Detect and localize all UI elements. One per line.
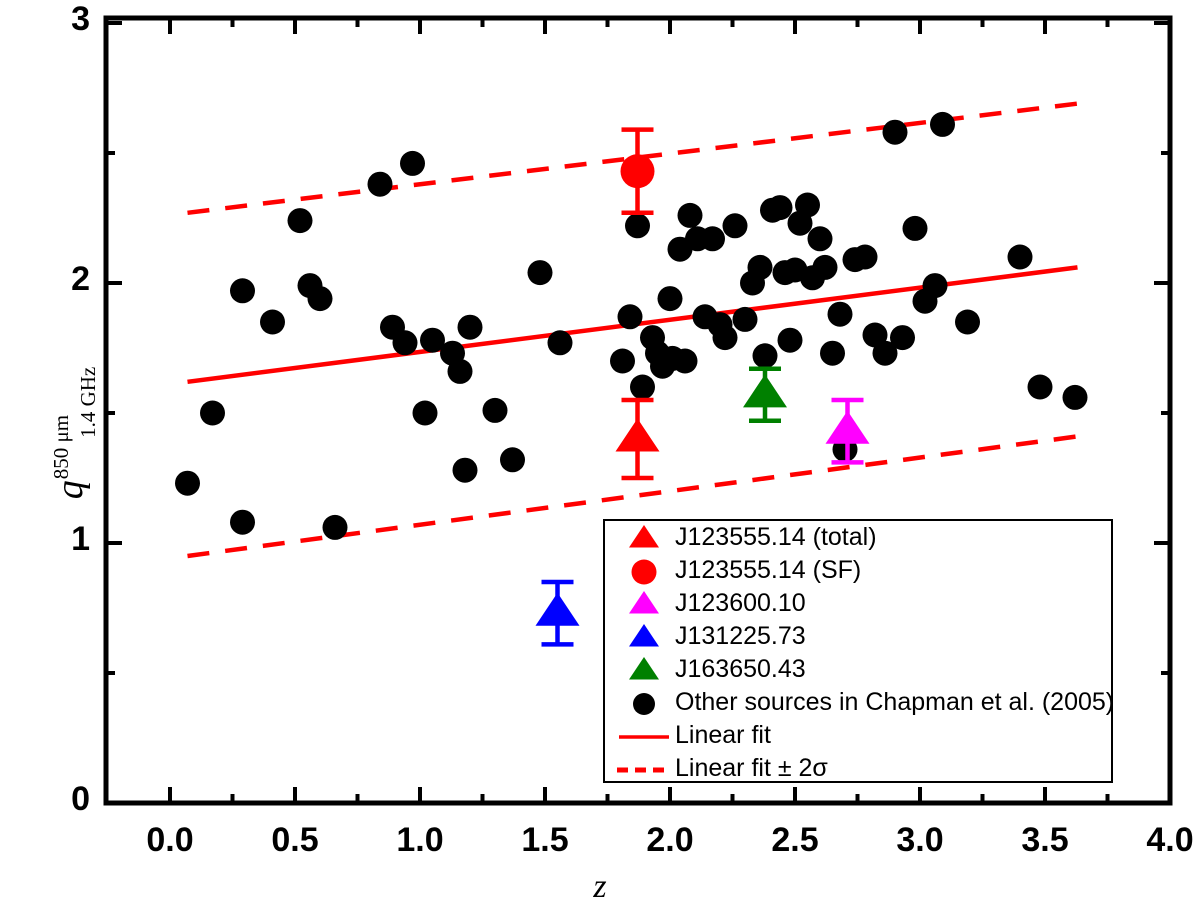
legend-item[interactable]: J123555.14 (SF) <box>605 554 1111 587</box>
x-tick-label: 1.0 <box>387 821 453 860</box>
legend-circle-icon <box>632 559 657 584</box>
data-point-circle <box>625 213 650 238</box>
legend-item[interactable]: J123555.14 (total) <box>605 521 1111 554</box>
data-point-circle <box>458 315 483 340</box>
y-tick-label: 1 <box>52 520 90 559</box>
data-point-circle <box>483 398 508 423</box>
legend-marker-solid-line-icon <box>613 719 675 752</box>
data-point-circle <box>890 325 915 350</box>
data-point-circle <box>230 510 255 535</box>
data-point-circle <box>748 255 773 280</box>
x-tick-label: 2.0 <box>637 821 703 860</box>
legend-item-label: Linear fit ± 2σ <box>675 754 828 783</box>
legend-marker-triangle-icon <box>613 587 675 620</box>
data-point-circle <box>500 447 525 472</box>
data-point-circle <box>368 172 393 197</box>
data-point-circle <box>1008 245 1033 270</box>
data-point-circle <box>778 328 803 353</box>
data-point-circle <box>768 195 793 220</box>
data-point-circle <box>260 310 285 335</box>
legend-marker-triangle-icon <box>613 653 675 686</box>
y-axis-title-superscript: 850 μm <box>49 415 73 479</box>
legend-item[interactable]: Other sources in Chapman et al. (2005) <box>605 686 1111 719</box>
data-point-circle <box>1028 375 1053 400</box>
data-point-circle <box>200 401 225 426</box>
legend-marker-circle-icon <box>613 554 675 587</box>
data-point-circle <box>548 330 573 355</box>
data-point-circle <box>288 208 313 233</box>
x-tick-label: 3.0 <box>887 821 953 860</box>
legend-item-label: J123555.14 (SF) <box>675 556 861 585</box>
data-point-circle <box>903 216 928 241</box>
data-point-circle <box>923 273 948 298</box>
y-tick-label: 2 <box>52 260 90 299</box>
data-point-circle <box>700 226 725 251</box>
data-point-circle <box>883 120 908 145</box>
legend-marker-triangle-icon <box>613 620 675 653</box>
data-point-circle <box>308 286 333 311</box>
data-point-triangle <box>826 411 870 444</box>
legend-item-label: J131225.73 <box>675 622 806 651</box>
legend-item[interactable]: J123600.10 <box>605 587 1111 620</box>
data-point-circle <box>813 255 838 280</box>
data-point-triangle <box>743 374 787 407</box>
data-point-circle <box>808 226 833 251</box>
data-point-circle <box>630 375 655 400</box>
x-tick-label: 3.5 <box>1012 821 1078 860</box>
data-point-circle <box>820 341 845 366</box>
legend-item-label: J163650.43 <box>675 655 806 684</box>
data-point-triangle <box>536 593 580 626</box>
data-point-circle <box>528 260 553 285</box>
data-point-circle <box>955 310 980 335</box>
legend-triangle-icon <box>629 624 659 647</box>
data-point-circle <box>393 330 418 355</box>
y-tick-label: 0 <box>52 780 90 819</box>
data-point-circle-highlight <box>621 154 655 188</box>
data-point-circle <box>723 213 748 238</box>
data-point-circle <box>673 349 698 374</box>
data-point-circle <box>753 343 778 368</box>
y-axis-title-base: q <box>49 480 91 499</box>
legend-marker-circle-icon <box>613 686 675 719</box>
data-point-circle <box>618 304 643 329</box>
data-point-circle <box>678 203 703 228</box>
y-axis-title-subscript: 1.4 GHz <box>76 367 100 438</box>
legend-item[interactable]: J163650.43 <box>605 653 1111 686</box>
data-point-circle <box>795 193 820 218</box>
legend-item[interactable]: Linear fit ± 2σ <box>605 752 1111 785</box>
legend-item[interactable]: Linear fit <box>605 719 1111 752</box>
y-axis-title: q850 μm1.4 GHz <box>12 332 132 512</box>
legend-marker-triangle-icon <box>613 521 675 554</box>
data-point-circle <box>853 245 878 270</box>
data-point-circle <box>453 458 478 483</box>
legend-item[interactable]: J131225.73 <box>605 620 1111 653</box>
data-point-circle <box>400 151 425 176</box>
data-point-circle <box>1063 385 1088 410</box>
legend-item-label: J123555.14 (total) <box>675 523 877 552</box>
legend-item-label: Other sources in Chapman et al. (2005) <box>675 688 1114 717</box>
data-point-circle <box>175 471 200 496</box>
legend-triangle-icon <box>629 657 659 680</box>
x-tick-label: 1.5 <box>512 821 578 860</box>
x-tick-label: 2.5 <box>762 821 828 860</box>
legend-item-label: J123600.10 <box>675 589 806 618</box>
legend-triangle-icon <box>629 591 659 614</box>
data-point-circle <box>610 349 635 374</box>
data-point-triangle <box>616 419 660 452</box>
data-point-circle <box>230 278 255 303</box>
data-point-circle <box>323 515 348 540</box>
data-point-circle <box>828 302 853 327</box>
x-tick-label: 0.0 <box>137 821 203 860</box>
y-tick-label: 3 <box>52 0 90 39</box>
data-point-circle <box>658 286 683 311</box>
figure-scatter-plot: 0.00.51.01.52.02.53.03.54.0 0123 q850 μm… <box>0 0 1200 916</box>
legend-marker-dashed-line-icon <box>613 752 675 785</box>
x-tick-label: 4.0 <box>1137 821 1200 860</box>
legend-circle-icon <box>633 693 655 715</box>
data-point-circle <box>713 325 738 350</box>
x-tick-label: 0.5 <box>262 821 328 860</box>
data-point-circle <box>448 359 473 384</box>
legend-item-label: Linear fit <box>675 721 771 750</box>
data-point-circle <box>413 401 438 426</box>
data-point-circle <box>733 307 758 332</box>
x-axis-title: z <box>0 868 1200 906</box>
legend-triangle-icon <box>629 525 659 548</box>
data-point-circle <box>930 112 955 137</box>
legend-box: J123555.14 (total)J123555.14 (SF)J123600… <box>603 519 1113 783</box>
